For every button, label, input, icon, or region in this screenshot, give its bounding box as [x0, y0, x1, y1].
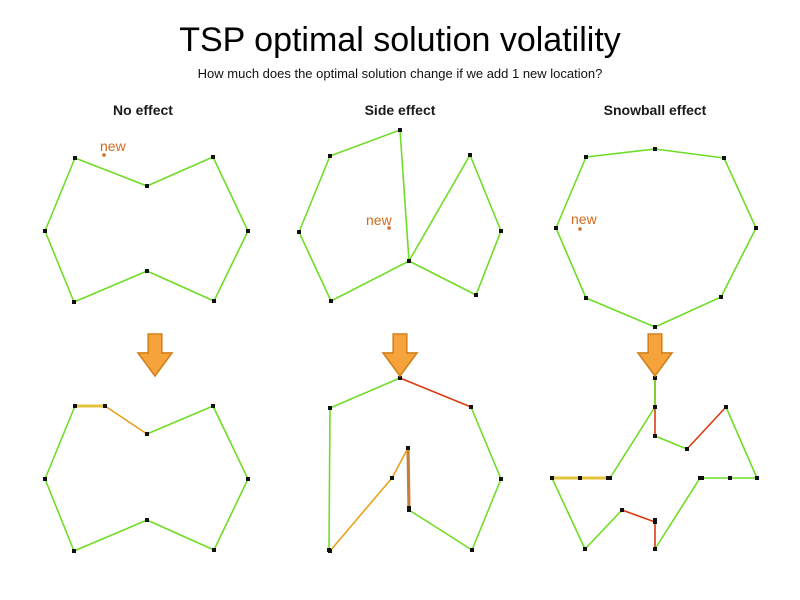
tour-edge — [655, 149, 724, 158]
tour-edge — [409, 155, 470, 261]
city-node-icon — [653, 405, 657, 409]
tour-edge — [471, 407, 501, 479]
tour-edge — [470, 155, 501, 231]
city-node-icon — [755, 476, 759, 480]
tour-edge — [586, 298, 655, 327]
tour-edge — [45, 406, 75, 479]
city-node-icon — [653, 520, 657, 524]
tour-edge — [147, 271, 214, 301]
tour-edge — [330, 378, 400, 408]
tour-edge — [74, 271, 147, 302]
tour-edge — [329, 408, 330, 550]
tour-edge — [299, 232, 331, 301]
city-node-icon — [43, 477, 47, 481]
city-node-icon — [145, 518, 149, 522]
city-node-icon — [390, 476, 394, 480]
city-node-icon — [653, 147, 657, 151]
city-node-icon — [584, 296, 588, 300]
tour-edge — [330, 130, 400, 156]
city-node-icon — [578, 476, 582, 480]
tour-edge — [655, 436, 687, 449]
city-node-icon — [653, 547, 657, 551]
city-node-icon — [103, 404, 107, 408]
new-point-marker-snowball-effect — [578, 227, 581, 230]
city-node-icon — [550, 476, 554, 480]
tour-edge — [45, 158, 75, 231]
tour-edge — [400, 378, 471, 407]
tour-edge — [610, 407, 655, 478]
tour-edge — [147, 157, 213, 186]
city-node-icon — [211, 404, 215, 408]
city-node-icon — [499, 477, 503, 481]
tour-before-no-effect — [43, 155, 250, 304]
city-node-icon — [145, 269, 149, 273]
tour-edge — [331, 261, 409, 301]
tour-edge — [105, 406, 147, 434]
tour-edge — [147, 520, 214, 550]
down-arrow-icon-no-effect — [138, 334, 172, 376]
tour-edge — [213, 406, 248, 479]
city-node-icon — [246, 477, 250, 481]
city-node-icon — [328, 406, 332, 410]
tour-edge — [472, 479, 501, 550]
city-node-icon — [73, 156, 77, 160]
city-node-icon — [754, 226, 758, 230]
city-node-icon — [212, 299, 216, 303]
city-node-icon — [407, 259, 411, 263]
tour-edge — [409, 510, 472, 550]
down-arrow-icon-side-effect — [383, 334, 417, 376]
city-node-icon — [212, 548, 216, 552]
city-node-icon — [328, 154, 332, 158]
city-node-icon — [329, 299, 333, 303]
city-node-icon — [728, 476, 732, 480]
new-point-label-no-effect: new — [100, 138, 126, 154]
city-node-icon — [469, 405, 473, 409]
tour-edge — [147, 406, 213, 434]
tour-edge — [45, 231, 74, 302]
city-node-icon — [72, 300, 76, 304]
tour-edge — [556, 228, 586, 298]
city-node-icon — [468, 153, 472, 157]
down-arrow-icon-snowball-effect — [638, 334, 672, 376]
city-node-icon — [584, 155, 588, 159]
city-node-icon — [685, 447, 689, 451]
tour-edge — [724, 158, 756, 228]
tour-edge — [408, 448, 409, 508]
tour-edge — [214, 231, 248, 301]
slide-canvas: TSP optimal solution volatility How much… — [0, 0, 800, 600]
tour-edge — [622, 510, 655, 522]
tour-edge — [330, 478, 392, 551]
city-node-icon — [653, 434, 657, 438]
city-node-icon — [474, 293, 478, 297]
tour-edge — [299, 156, 330, 232]
tour-edge — [409, 261, 476, 295]
tour-edge — [586, 149, 655, 157]
new-point-label-side-effect: new — [366, 212, 392, 228]
city-node-icon — [211, 155, 215, 159]
city-node-icon — [72, 549, 76, 553]
tour-edge — [655, 297, 721, 327]
tour-edge — [400, 130, 409, 261]
city-node-icon — [246, 229, 250, 233]
city-node-icon — [724, 405, 728, 409]
city-node-icon — [327, 548, 331, 552]
new-point-label-snowball-effect: new — [571, 211, 597, 227]
city-node-icon — [653, 325, 657, 329]
city-node-icon — [406, 446, 410, 450]
city-node-icon — [398, 128, 402, 132]
city-node-icon — [719, 295, 723, 299]
tour-edge — [721, 228, 756, 297]
tour-edge — [585, 510, 622, 549]
tour-before-side-effect — [297, 128, 503, 303]
tour-edge — [45, 479, 74, 551]
tour-edge — [552, 478, 585, 549]
tour-edge — [726, 407, 757, 478]
tour-edge — [74, 520, 147, 551]
city-node-icon — [145, 184, 149, 188]
city-node-icon — [583, 547, 587, 551]
tour-edge — [687, 407, 726, 449]
tsp-diagram-layer — [0, 0, 800, 600]
city-node-icon — [470, 548, 474, 552]
tour-edge — [476, 231, 501, 295]
city-node-icon — [554, 226, 558, 230]
city-node-icon — [698, 476, 702, 480]
city-node-icon — [297, 230, 301, 234]
city-node-icon — [407, 506, 411, 510]
city-node-icon — [722, 156, 726, 160]
city-node-icon — [499, 229, 503, 233]
tour-before-snowball-effect — [554, 147, 758, 329]
tour-edge — [655, 478, 700, 549]
tour-after-snowball-effect — [550, 376, 759, 551]
tour-edge — [392, 448, 408, 478]
city-node-icon — [620, 508, 624, 512]
tour-after-side-effect — [327, 376, 503, 553]
tour-edge — [214, 479, 248, 550]
city-node-icon — [608, 476, 612, 480]
city-node-icon — [43, 229, 47, 233]
tour-edge — [213, 157, 248, 231]
city-node-icon — [73, 404, 77, 408]
tour-after-no-effect — [43, 404, 250, 553]
tour-edge — [75, 158, 147, 186]
city-node-icon — [145, 432, 149, 436]
